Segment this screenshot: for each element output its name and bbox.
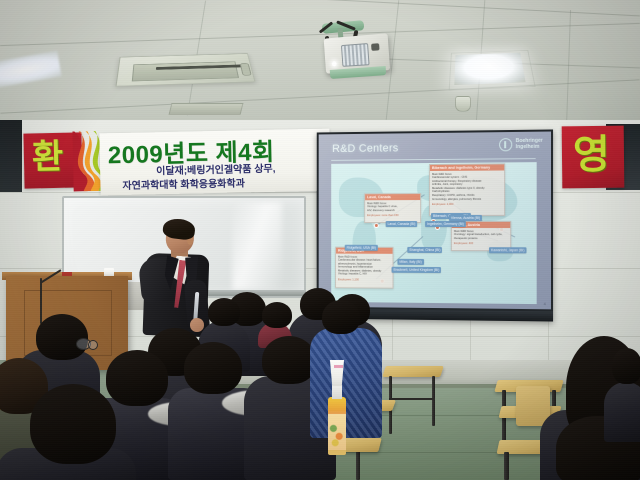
podium-cable (40, 278, 42, 324)
wall-panel-left (0, 120, 22, 192)
callout-body: Main R&D focus: Cardiovascular disease: … (336, 254, 392, 279)
presentation-slide: R&D Centers Boehringer Ingelheim (319, 132, 551, 310)
lecture-hall-photo: 환 2009년도 제4회 이달재;베링거인겔약품 상무, 자연과학대학 화학응용… (0, 0, 640, 480)
audience-body (604, 382, 640, 442)
banner-right-block: 영 (562, 126, 625, 189)
slide-title-rule (331, 158, 535, 161)
audience-hair (30, 384, 116, 464)
callout-biberach: Biberach and Ingelheim, Germany Main R&D… (429, 163, 505, 216)
juice-bottle (327, 360, 347, 458)
audience-hair (322, 300, 360, 334)
world-map-graphic: Biberach and Ingelheim, Germany Main R&D… (331, 162, 536, 304)
eyeglasses-icon (88, 340, 98, 350)
callout-body: Main R&D focus: Oncology: signal transdu… (452, 228, 510, 242)
callout-laval: Laval, Canada Main R&D focus: Virology: … (364, 193, 421, 223)
ac-vent-slot (156, 65, 242, 70)
city-label: Vienna, Austria (BI) (449, 215, 482, 221)
city-label: Shanghai, China (BI) (407, 247, 442, 253)
boehringer-ingelheim-logo: Boehringer Ingelheim (499, 138, 542, 152)
banner-left-character: 환 (32, 140, 64, 175)
audience-hair (106, 350, 168, 406)
callout-footer: Employees: 1,100 (336, 278, 392, 281)
banner-subtitle-department: 자연과학대학 화학응용화학과 (122, 174, 245, 192)
projector-lens-icon (341, 43, 370, 67)
audience-hair (184, 342, 242, 394)
desk-leg (432, 376, 435, 426)
banner-right-character: 영 (573, 135, 610, 175)
ceiling-light-right-icon (454, 53, 525, 85)
callout-body: Main R&D focus: Cardiovascular system - … (430, 170, 504, 202)
ceiling-air-conditioner (115, 53, 255, 86)
desk-rail (389, 398, 435, 400)
city-label: Laval, Canada (BI) (386, 221, 418, 227)
welcome-banner: 2009년도 제4회 이달재;베링거인겔약품 상무, 자연과학대학 화학응용화학… (99, 129, 330, 196)
logo-text: Boehringer Ingelheim (516, 139, 543, 150)
map-marker (374, 223, 379, 228)
ceiling (0, 0, 640, 132)
logo-mark-icon (499, 138, 512, 151)
audience-hair (262, 336, 316, 384)
audience-hair (612, 348, 640, 384)
city-label: Ridgefield, USA (BI) (345, 245, 378, 251)
projection-screen: R&D Centers Boehringer Ingelheim (317, 129, 553, 321)
callout-footer: Employees: 2,000 (430, 203, 504, 206)
cup-band (334, 365, 343, 368)
ceiling-vent-strip (169, 103, 244, 115)
ceiling-speaker-icon (455, 96, 471, 112)
ac-side-vent (240, 63, 252, 76)
city-label: Kawanishi, Japan (BI) (489, 247, 526, 253)
whiteboard-glare (232, 202, 282, 290)
callout-ridgefield: Ridgefield, USA Main R&D focus: Cardiova… (335, 247, 393, 289)
audience-hair (262, 302, 292, 328)
callout-body: Main R&D focus: Virology: hepatitis C vi… (365, 200, 420, 214)
city-label: Milan, Italy (BI) (397, 259, 423, 265)
city-label: Bracknell, United Kingdom (BI) (392, 267, 442, 273)
bottle-paper-cup (329, 360, 345, 386)
projector-power-led-icon (332, 61, 337, 66)
projector-knob (371, 43, 379, 51)
logo-line-2: Ingelheim (516, 144, 543, 150)
audience-hair (36, 314, 88, 360)
desk-leg (504, 452, 509, 480)
bottle-label (328, 414, 346, 450)
callout-footer: Employees: more than 150 (365, 214, 420, 217)
ac-grille (132, 61, 239, 81)
slide-title: R&D Centers (332, 142, 398, 155)
audience-hair (208, 298, 240, 326)
callout-footer: Employees: 400 (452, 242, 510, 245)
city-label: Ingelheim, Germany (BI) (425, 221, 466, 227)
bottle-neck (332, 385, 342, 399)
slide-page-number: 4 (544, 301, 546, 306)
